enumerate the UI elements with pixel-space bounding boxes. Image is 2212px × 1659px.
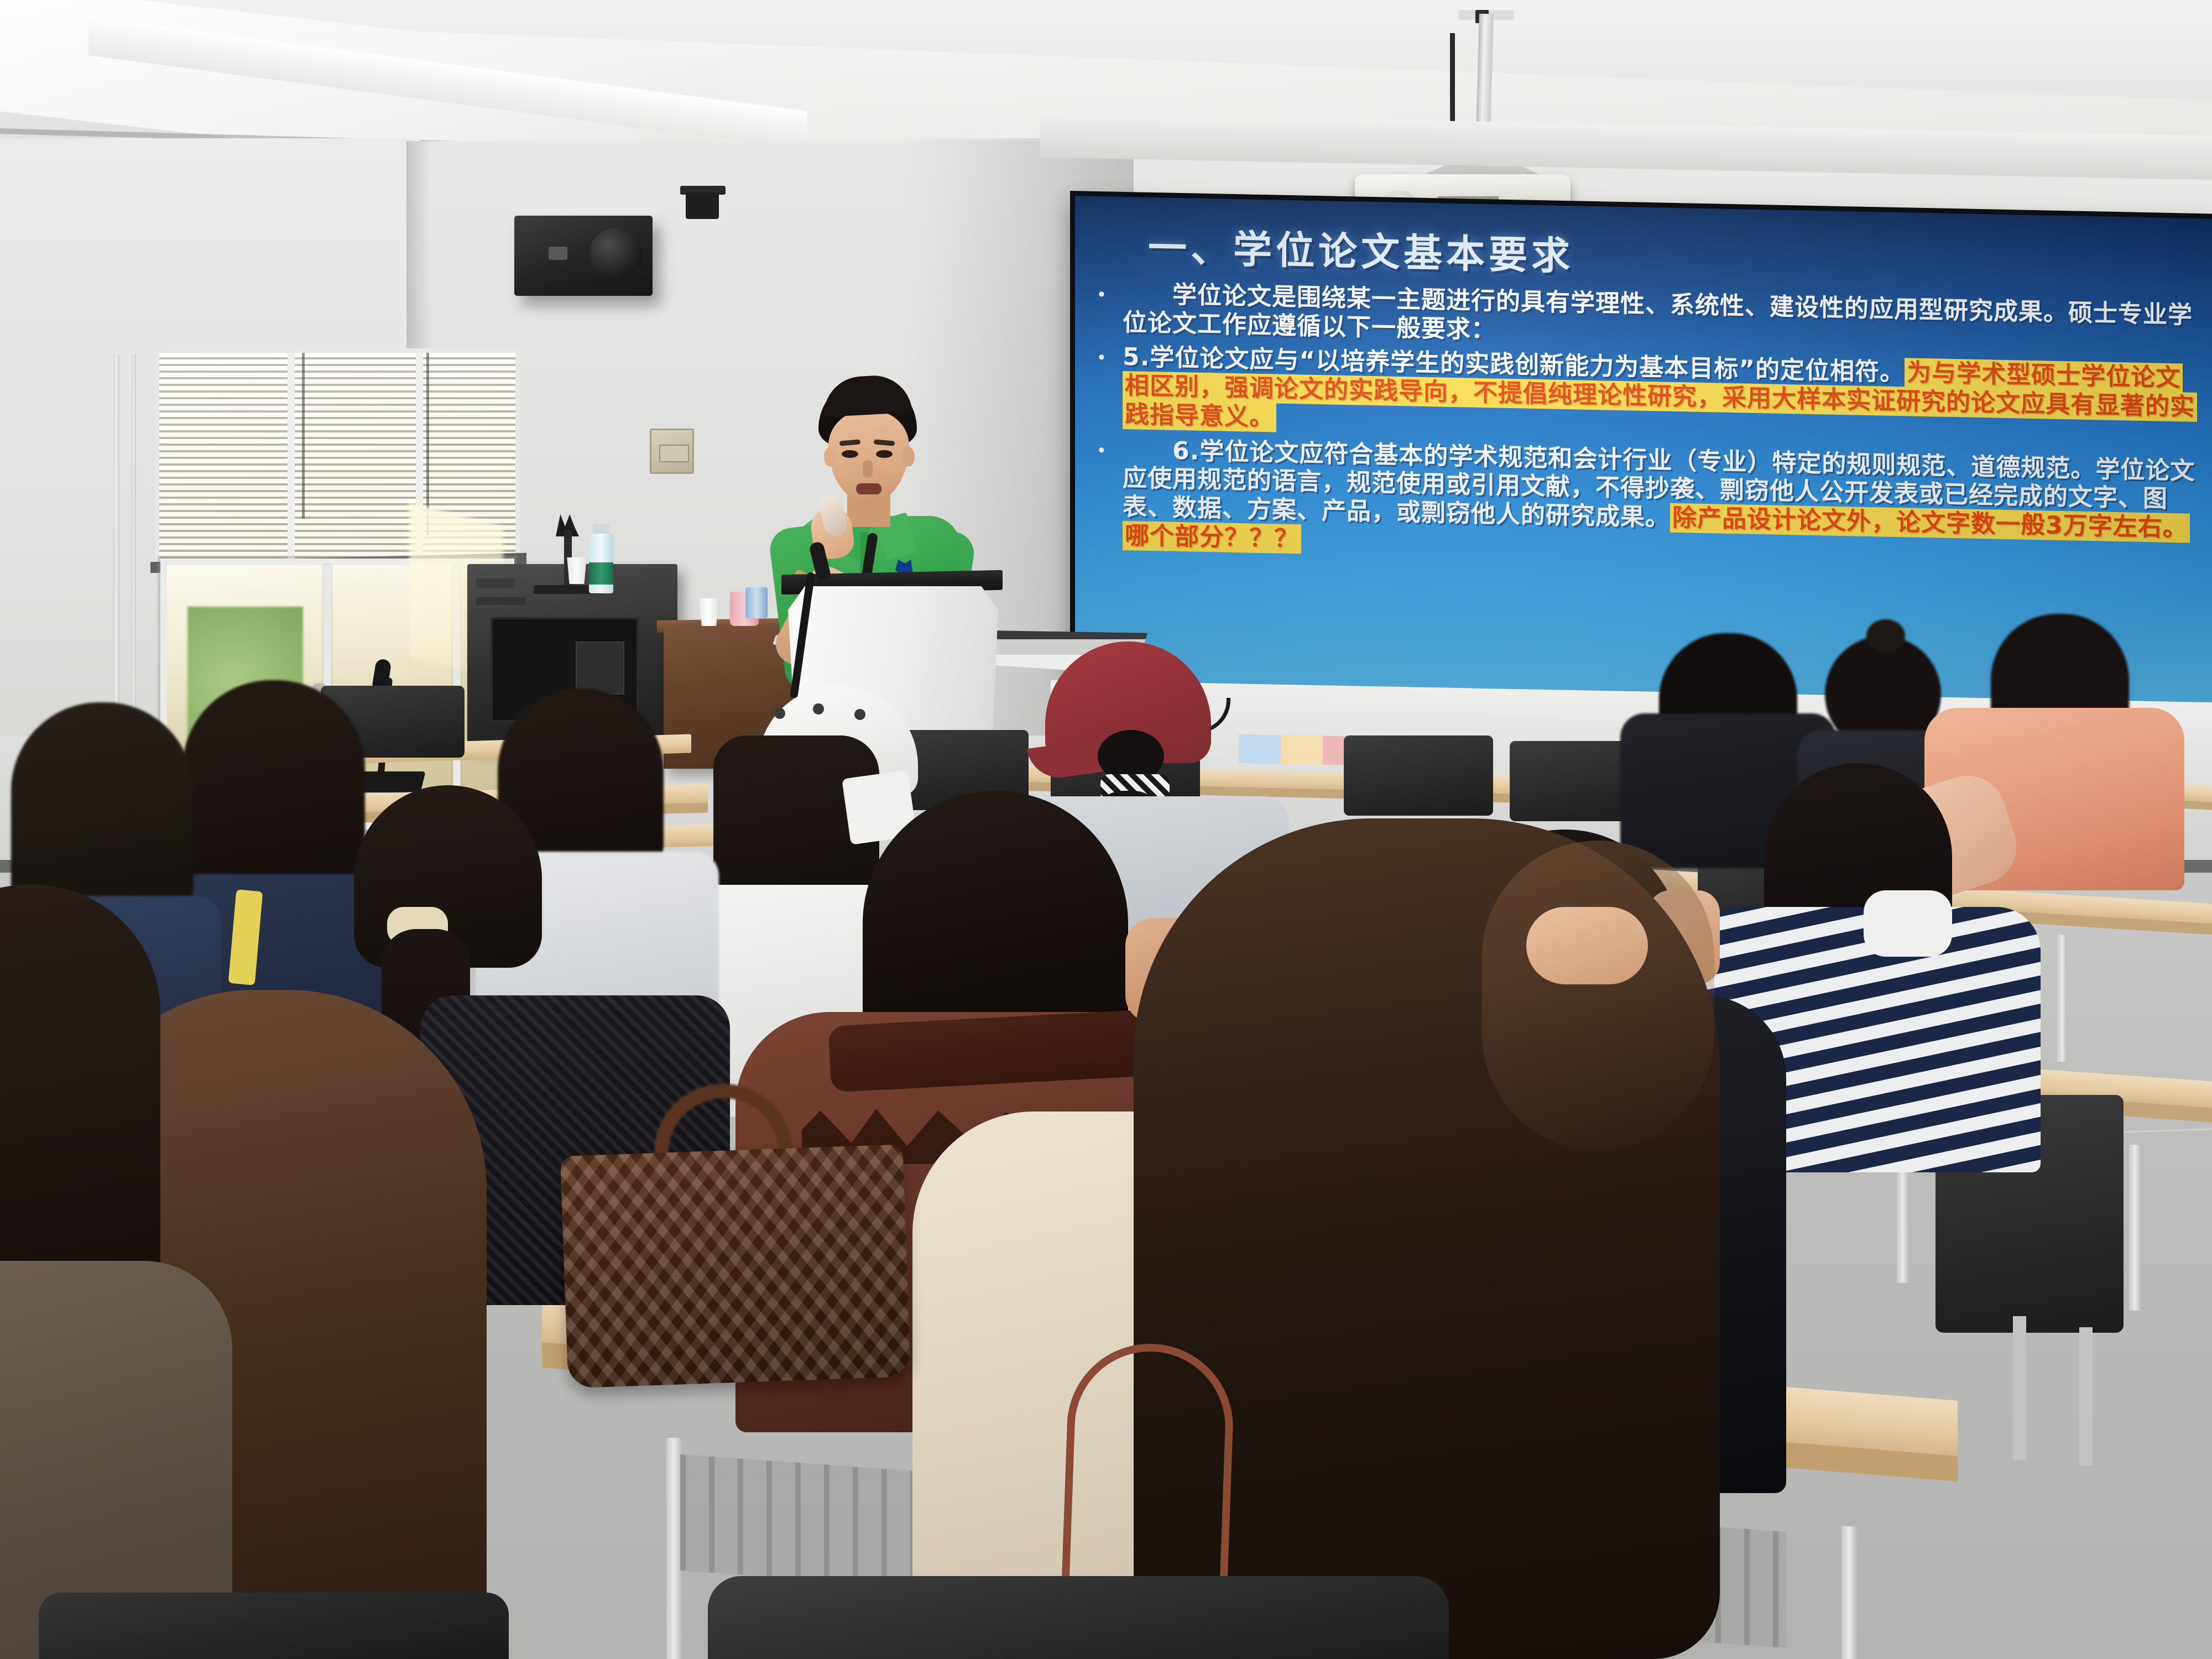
presenter-eye	[876, 450, 893, 458]
blind-cord[interactable]	[302, 353, 305, 519]
desk-leg	[666, 1438, 682, 1659]
wall-conduit-pipe	[113, 354, 119, 719]
slide-body: • 学位论文是围绕某一主题进行的具有学理性、系统性、建设性的应用型研究成果。硕士…	[1075, 279, 2212, 572]
bullet-marker: •	[1092, 435, 1123, 465]
desk-leg	[1841, 1526, 1857, 1659]
floor-microphone-base	[357, 771, 425, 792]
cap-eyelet	[813, 703, 824, 714]
water-bottle	[589, 534, 613, 593]
cap-eyelet	[854, 709, 865, 720]
cap-eyelet	[774, 708, 785, 719]
speaker-tweeter	[549, 247, 567, 260]
slide-title: 一、学位论文基本要求	[1148, 217, 1574, 281]
lecture-hall-photo: 一、学位论文基本要求 • 学位论文是围绕某一主题进行的具有学理性、系统性、建设性…	[0, 0, 2212, 1659]
rack-inner-device	[576, 641, 624, 695]
window-mullion	[288, 353, 295, 560]
wall-speaker	[514, 216, 653, 296]
bottle-label	[589, 562, 613, 585]
rack-device	[476, 597, 526, 605]
woven-leather-handbag	[560, 1144, 911, 1388]
bullet-marker: •	[1092, 279, 1123, 310]
chair[interactable]	[708, 1576, 1449, 1659]
presenter-mouth	[856, 483, 881, 494]
presenter-ear	[902, 447, 915, 467]
hair-highlight	[1482, 841, 1714, 1150]
bullet-text: 5.学位论文应与“以培养学生的实践创新能力为基本目标”的定位相符。为与学术型硕士…	[1123, 343, 2198, 451]
speaker-cone	[589, 228, 643, 281]
chair-leg	[2013, 1316, 2026, 1460]
chair[interactable]	[1344, 735, 1493, 816]
presenter-nose	[863, 460, 873, 478]
attendee-ear-cheek	[1526, 907, 1648, 984]
chair-leg	[2079, 1327, 2093, 1465]
bullet-marker: •	[1092, 342, 1123, 373]
rack-device	[476, 578, 515, 588]
collar	[1864, 890, 1952, 957]
slide-bullet: • 5.学位论文应与“以培养学生的实践创新能力为基本目标”的定位相符。为与学术型…	[1092, 342, 2198, 451]
desk-leg	[2057, 935, 2067, 1062]
slide-highlight-question: 哪个部分？？？	[1123, 521, 1301, 554]
wall-conduit-pipe	[132, 354, 136, 719]
blue-cup	[745, 587, 768, 618]
chair[interactable]	[39, 1593, 509, 1659]
presenter-ear	[824, 447, 836, 467]
speaker-bracket	[686, 192, 719, 219]
desk-leg	[2129, 1145, 2141, 1311]
slide-bullet: • 6.学位论文应符合基本的学术规范和会计行业（专业）特定的规则规范、道德规范。…	[1092, 435, 2198, 572]
wall-panel-outlet[interactable]	[650, 429, 694, 474]
presenter-eye	[842, 450, 858, 458]
bullet-text: 6.学位论文应符合基本的学术规范和会计行业（专业）特定的规则规范、道德规范。学位…	[1123, 435, 2198, 572]
